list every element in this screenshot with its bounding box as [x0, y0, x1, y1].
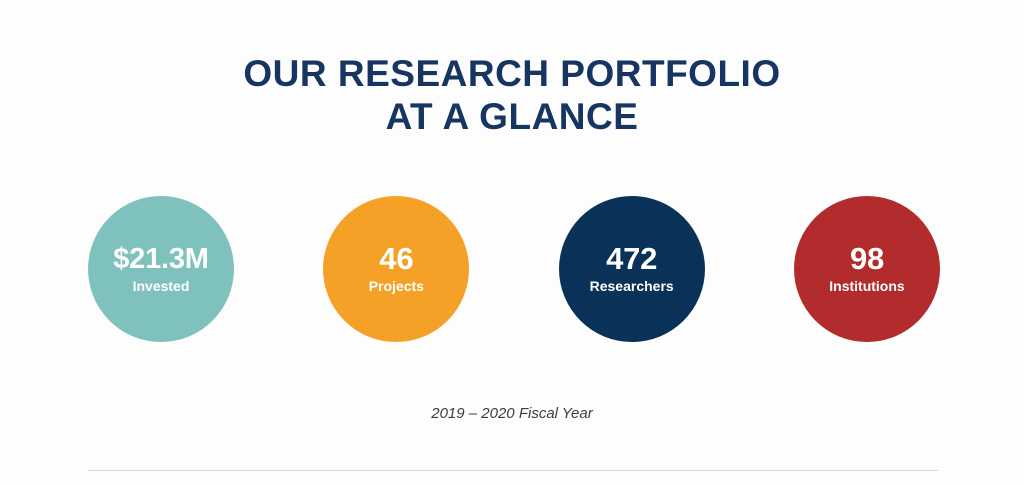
fiscal-year-caption: 2019 – 2020 Fiscal Year [0, 404, 1024, 424]
stat-circle-invested: $21.3M Invested [88, 196, 234, 342]
stat-value-institutions: 98 [850, 243, 884, 275]
stat-value-invested: $21.3M [113, 243, 209, 275]
stat-label-invested: Invested [133, 277, 190, 295]
stat-label-projects: Projects [369, 277, 424, 295]
stat-circle-projects: 46 Projects [323, 196, 469, 342]
stat-value-researchers: 472 [606, 243, 657, 275]
title-line-2: At a Glance [0, 95, 1024, 138]
bottom-divider [88, 470, 938, 471]
stats-row: $21.3M Invested 46 Projects 472 Research… [88, 196, 940, 342]
page-title: Our Research Portfolio At a Glance [0, 52, 1024, 138]
stat-value-projects: 46 [379, 243, 413, 275]
stat-circle-researchers: 472 Researchers [559, 196, 705, 342]
stat-label-researchers: Researchers [590, 277, 674, 295]
title-line-1: Our Research Portfolio [0, 52, 1024, 95]
infographic-canvas: Our Research Portfolio At a Glance $21.3… [0, 0, 1024, 484]
stat-circle-institutions: 98 Institutions [794, 196, 940, 342]
stat-label-institutions: Institutions [829, 277, 904, 295]
